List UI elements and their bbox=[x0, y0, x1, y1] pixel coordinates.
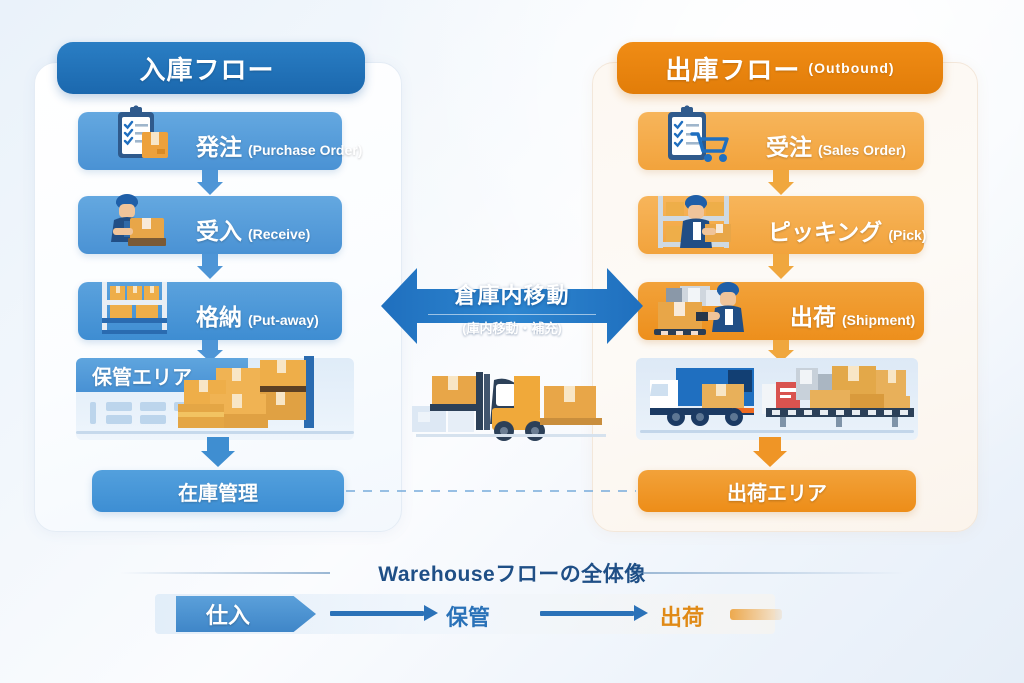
storage-area-illustration: 保管エリア bbox=[76, 358, 354, 440]
clipboard-cart-icon bbox=[660, 106, 736, 168]
footer-flow-step-storage[interactable]: 保管 bbox=[446, 600, 490, 632]
shipping-dock-illustration bbox=[636, 358, 918, 440]
footer-flow-label-shipment: 出荷 bbox=[660, 605, 704, 630]
footer-flow-label-storage: 保管 bbox=[446, 605, 490, 630]
worker-receiving-box-icon bbox=[100, 192, 174, 254]
inbound-header-title: 入庫フロー bbox=[139, 50, 274, 87]
outbound-step-label-3: 出荷 (Shipment) bbox=[790, 298, 915, 332]
truck-conveyor-icon bbox=[640, 360, 916, 436]
outbound-header-pill: 出庫フロー (Outbound) bbox=[617, 42, 943, 94]
worker-loading-box-icon bbox=[644, 274, 768, 340]
stacked-boxes-icon bbox=[162, 354, 352, 440]
warehouse-flow-diagram: 入庫フロー 発注 (Purchase Order) bbox=[0, 0, 1024, 683]
outbound-step-label-2: ピッキング (Pick) bbox=[768, 213, 926, 247]
worker-picking-rack-icon bbox=[650, 190, 760, 254]
outbound-header-title: 出庫フロー bbox=[665, 50, 800, 87]
inventory-management-box[interactable]: 在庫管理 bbox=[92, 470, 344, 512]
footer-trailing-bar bbox=[730, 609, 782, 620]
clipboard-checklist-box-icon bbox=[106, 106, 172, 164]
footer-arrow-2 bbox=[540, 609, 648, 617]
outbound-header-subtitle: (Outbound) bbox=[808, 60, 894, 76]
forklift-illustration bbox=[408, 368, 618, 450]
shipping-area-box[interactable]: 出荷エリア bbox=[638, 470, 916, 512]
footer-title: Warehouseフローの全体像 bbox=[0, 558, 1024, 588]
outbound-step-pick[interactable]: ピッキング (Pick) bbox=[638, 196, 924, 254]
footer-flow-step-shipment[interactable]: 出荷 bbox=[660, 600, 704, 632]
outbound-step-label-1: 受注 (Sales Order) bbox=[766, 128, 906, 162]
footer-flow-step-purchase[interactable]: 仕入 bbox=[176, 596, 316, 632]
inventory-management-label: 在庫管理 bbox=[178, 477, 258, 506]
shipping-area-label: 出荷エリア bbox=[727, 477, 827, 506]
inventory-to-shipping-connector bbox=[346, 490, 636, 492]
inbound-step-purchase-order[interactable]: 発注 (Purchase Order) bbox=[78, 112, 342, 170]
inbound-step-label-3: 格納 (Put-away) bbox=[196, 298, 319, 332]
inbound-step-label-2: 受入 (Receive) bbox=[196, 212, 310, 246]
footer-arrow-1 bbox=[330, 609, 438, 617]
warehouse-rack-icon bbox=[94, 278, 180, 340]
outbound-step-shipment[interactable]: 出荷 (Shipment) bbox=[638, 282, 924, 340]
warehouse-transfer-arrow bbox=[381, 263, 643, 349]
outbound-step-sales-order[interactable]: 受注 (Sales Order) bbox=[638, 112, 924, 170]
inbound-step-receive[interactable]: 受入 (Receive) bbox=[78, 196, 342, 254]
inbound-step-label-1: 発注 (Purchase Order) bbox=[196, 128, 362, 162]
forklift-with-pallets-icon bbox=[408, 368, 618, 450]
inbound-step-put-away[interactable]: 格納 (Put-away) bbox=[78, 282, 342, 340]
inbound-header-pill: 入庫フロー bbox=[57, 42, 365, 94]
footer-flow-label-purchase: 仕入 bbox=[206, 598, 250, 630]
